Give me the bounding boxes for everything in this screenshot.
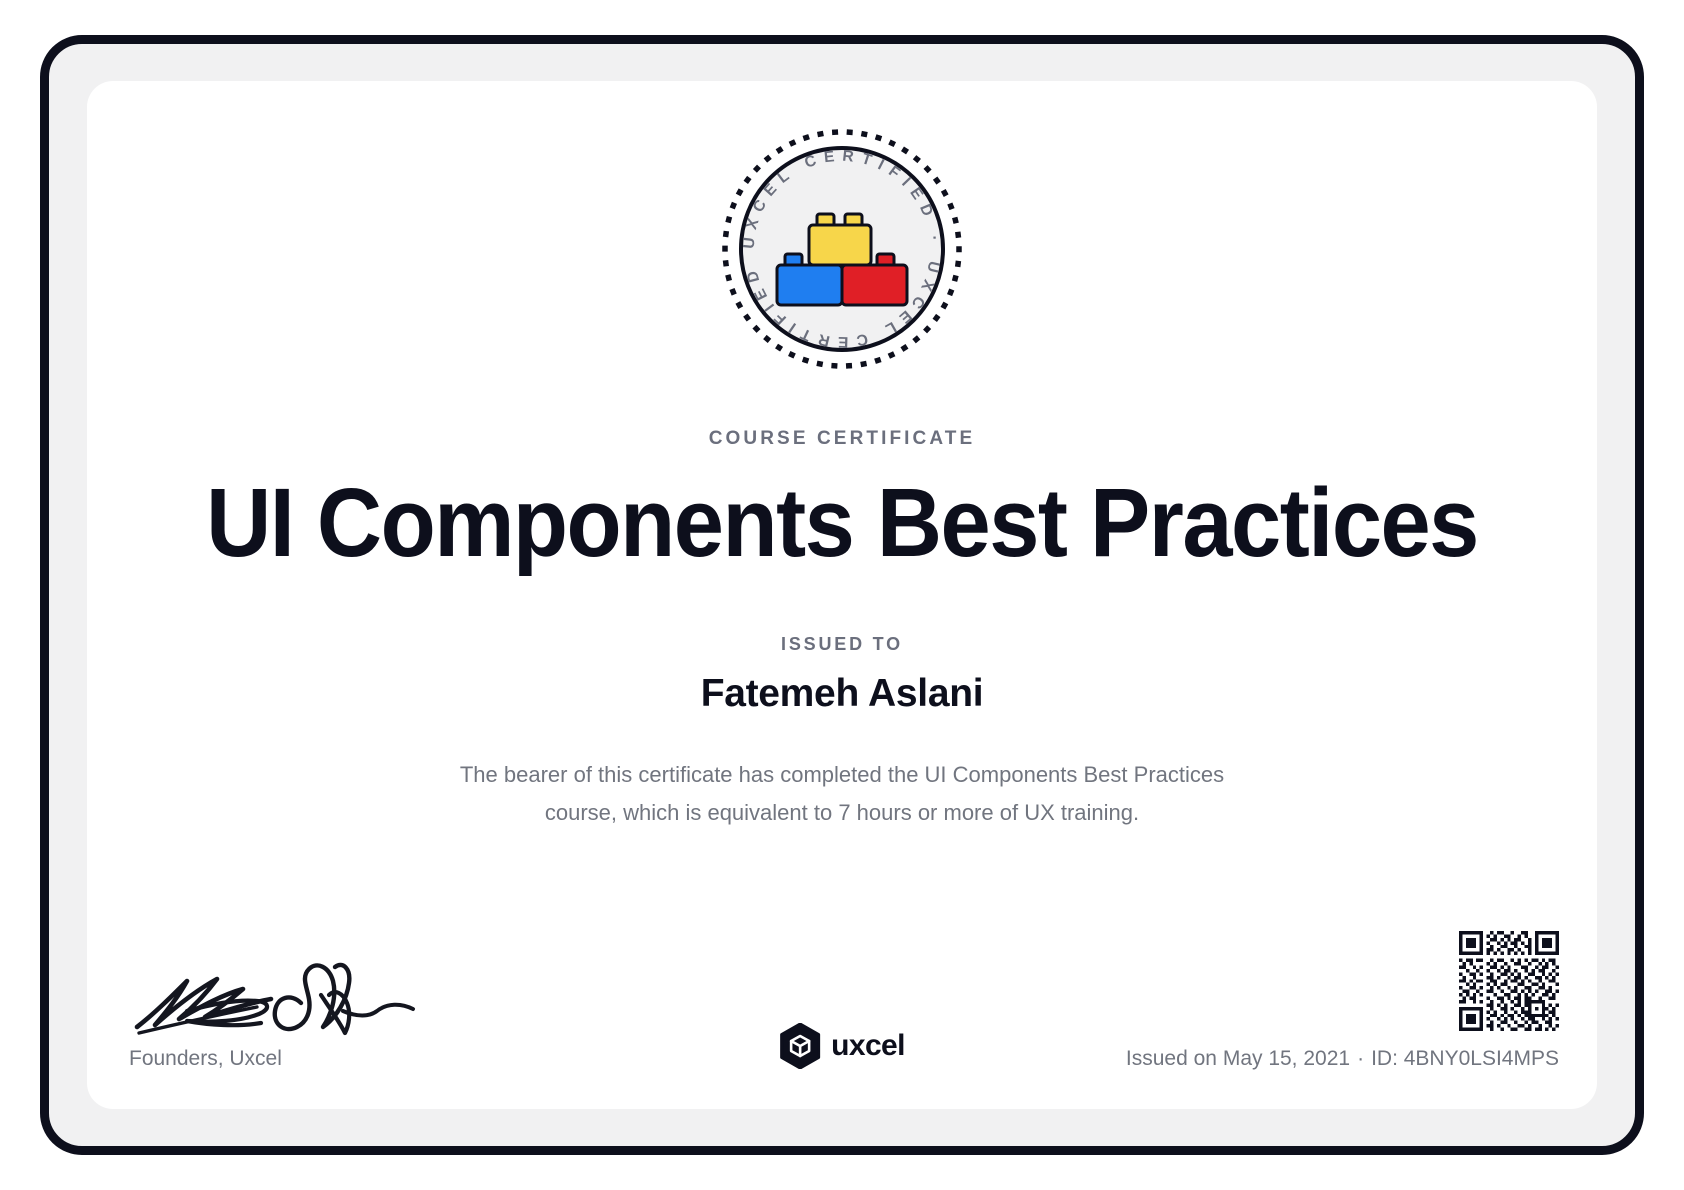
certificate-qr-code[interactable] [1126, 931, 1559, 1031]
issued-to-label: ISSUED TO [87, 634, 1597, 655]
issue-info-block: Issued on May 15, 2021·ID: 4BNY0LSI4MPS [1126, 931, 1559, 1071]
signature-caption: Founders, Uxcel [125, 1047, 465, 1071]
course-title: UI Components Best Practices [140, 471, 1544, 576]
recipient-name: Fatemeh Aslani [87, 672, 1597, 716]
right-brick-body [842, 265, 907, 305]
left-brick-body [777, 265, 842, 305]
certificate-id-text: ID: 4BNY0LSI4MPS [1371, 1047, 1559, 1070]
meta-separator: · [1350, 1047, 1371, 1070]
uxcel-wordmark: uxcel [831, 1029, 905, 1063]
certificate-page: UXCEL CERTIFIED · UXCEL CERTIFIED · UXCE… [0, 0, 1684, 1190]
uxcel-hexagon-icon [779, 1023, 821, 1069]
founders-signature-image [125, 955, 465, 1041]
signature-block: Founders, Uxcel [125, 955, 465, 1071]
course-certificate-eyebrow: COURSE CERTIFICATE [87, 428, 1597, 450]
issued-on-text: Issued on May 15, 2021 [1126, 1047, 1350, 1070]
certificate-card: UXCEL CERTIFIED · UXCEL CERTIFIED · UXCE… [87, 81, 1597, 1109]
issue-meta: Issued on May 15, 2021·ID: 4BNY0LSI4MPS [1126, 1047, 1559, 1071]
badge-container: UXCEL CERTIFIED · UXCEL CERTIFIED · UXCE… [87, 121, 1597, 377]
certificate-description: The bearer of this certificate has compl… [432, 756, 1252, 832]
uxcel-certified-badge: UXCEL CERTIFIED · UXCEL CERTIFIED · UXCE… [714, 121, 970, 377]
certificate-footer: Founders, Uxcel uxcel [87, 911, 1597, 1071]
top-brick-body [809, 225, 871, 265]
uxcel-brand-logo: uxcel [779, 1023, 905, 1069]
